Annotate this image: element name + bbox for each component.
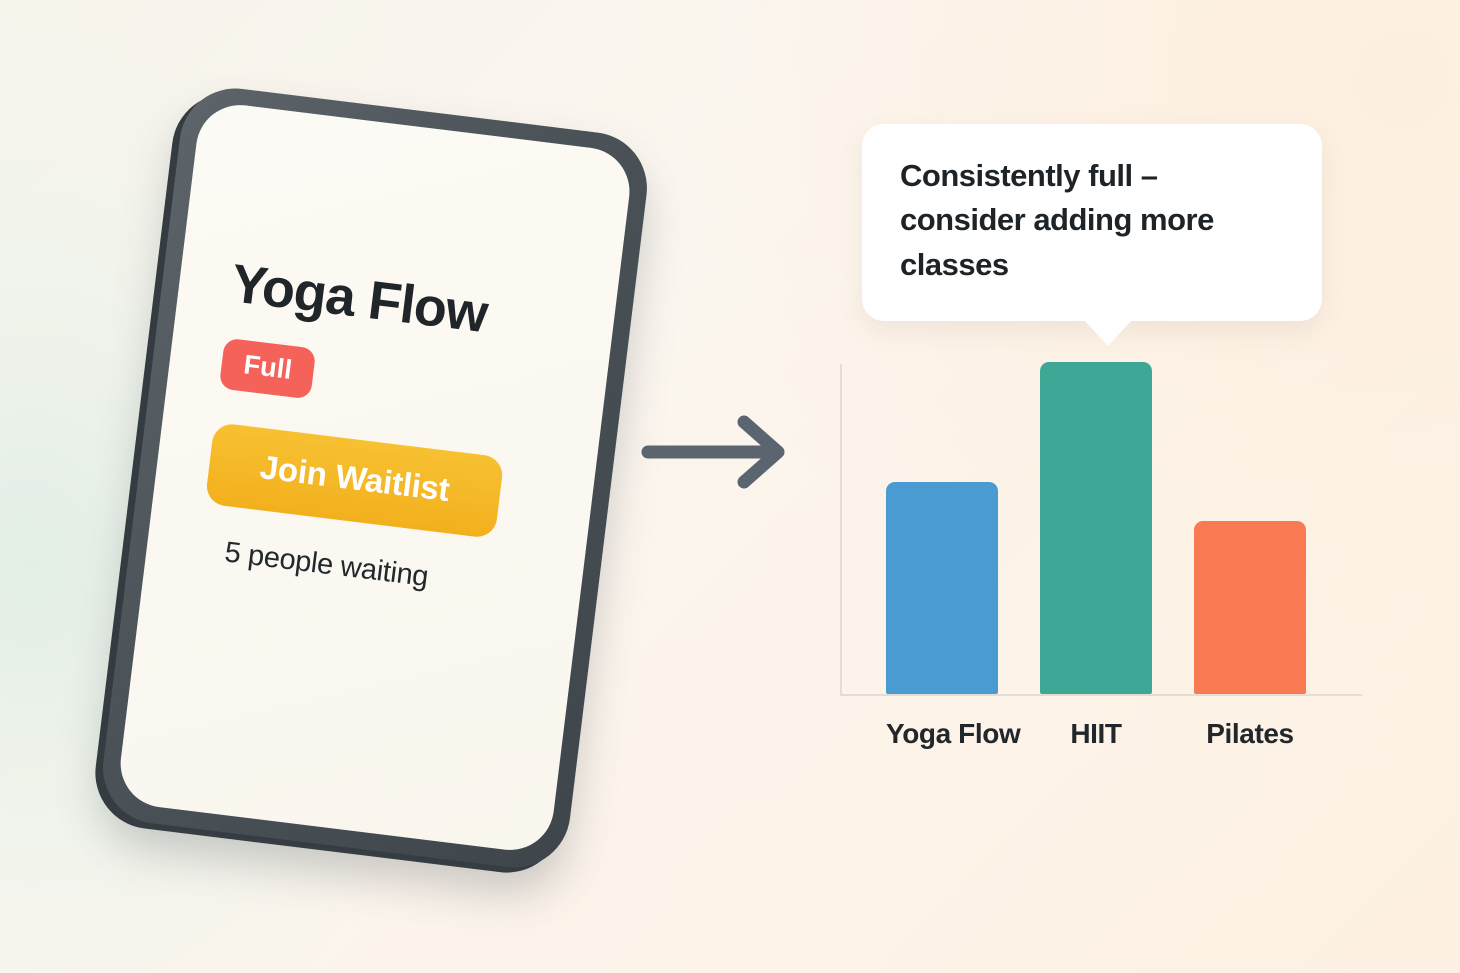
callout-pointer bbox=[1084, 320, 1132, 346]
join-waitlist-button[interactable]: Join Waitlist bbox=[205, 422, 505, 539]
status-badge: Full bbox=[219, 337, 317, 399]
phone-mockup: Yoga Flow Full Join Waitlist 5 people wa… bbox=[97, 82, 654, 874]
chart-x-axis bbox=[840, 694, 1362, 696]
waitlist-count-text: 5 people waiting bbox=[223, 536, 539, 607]
chart-y-axis bbox=[840, 364, 842, 696]
x-tick-label-yoga-flow: Yoga Flow bbox=[886, 718, 998, 750]
bar-hiit[interactable] bbox=[1040, 362, 1152, 694]
bar-yoga-flow[interactable] bbox=[886, 482, 998, 694]
bar-pilates[interactable] bbox=[1194, 521, 1306, 694]
phone-frame: Yoga Flow Full Join Waitlist 5 people wa… bbox=[97, 82, 654, 874]
status-badge-row: Full bbox=[219, 337, 563, 429]
arrow-right-icon bbox=[640, 412, 800, 492]
insight-callout: Consistently full – consider adding more… bbox=[862, 124, 1322, 321]
chart-plot-area bbox=[840, 364, 1368, 696]
x-tick-label-hiit: HIIT bbox=[1040, 718, 1152, 750]
chart-x-tick-labels: Yoga Flow HIIT Pilates bbox=[840, 718, 1368, 766]
x-tick-label-pilates: Pilates bbox=[1194, 718, 1306, 750]
phone-screen: Yoga Flow Full Join Waitlist 5 people wa… bbox=[116, 100, 635, 855]
class-title: Yoga Flow bbox=[228, 255, 572, 353]
illustration-canvas: Yoga Flow Full Join Waitlist 5 people wa… bbox=[0, 0, 1460, 973]
class-attendance-bar-chart: Yoga Flow HIIT Pilates bbox=[828, 340, 1368, 770]
chart-bars bbox=[886, 364, 1306, 694]
class-detail-card: Yoga Flow Full Join Waitlist 5 people wa… bbox=[116, 100, 635, 855]
insight-callout-text: Consistently full – consider adding more… bbox=[900, 154, 1286, 287]
